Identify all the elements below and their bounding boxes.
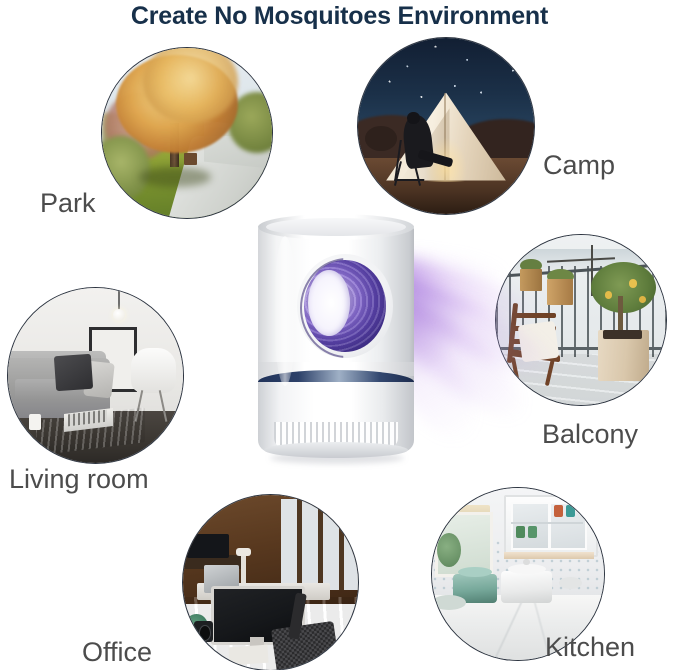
living-room-photo bbox=[8, 288, 183, 463]
scene-label-office: Office bbox=[82, 637, 152, 668]
balcony-photo bbox=[496, 235, 666, 405]
scene-circle-office bbox=[183, 495, 358, 670]
scene-circle-balcony bbox=[496, 235, 666, 405]
scene-label-camp: Camp bbox=[543, 150, 615, 181]
scene-circle-camp bbox=[358, 38, 534, 214]
infographic-canvas: Create No Mosquitoes Environment Park bbox=[0, 0, 679, 670]
scene-circle-living-room bbox=[8, 288, 183, 463]
scene-circle-park bbox=[102, 48, 272, 218]
camp-photo bbox=[358, 38, 534, 214]
scene-label-park: Park bbox=[40, 188, 96, 219]
office-photo bbox=[183, 495, 358, 670]
park-photo bbox=[102, 48, 272, 218]
product-top-inner bbox=[266, 218, 406, 236]
product-highlight bbox=[274, 236, 296, 386]
page-title: Create No Mosquitoes Environment bbox=[0, 2, 679, 31]
product-bottom-rim bbox=[264, 442, 408, 458]
scene-label-balcony: Balcony bbox=[542, 419, 638, 450]
product-image-mosquito-lamp bbox=[252, 210, 432, 480]
scene-label-kitchen: Kitchen bbox=[545, 632, 635, 663]
scene-label-living-room: Living room bbox=[9, 464, 149, 495]
